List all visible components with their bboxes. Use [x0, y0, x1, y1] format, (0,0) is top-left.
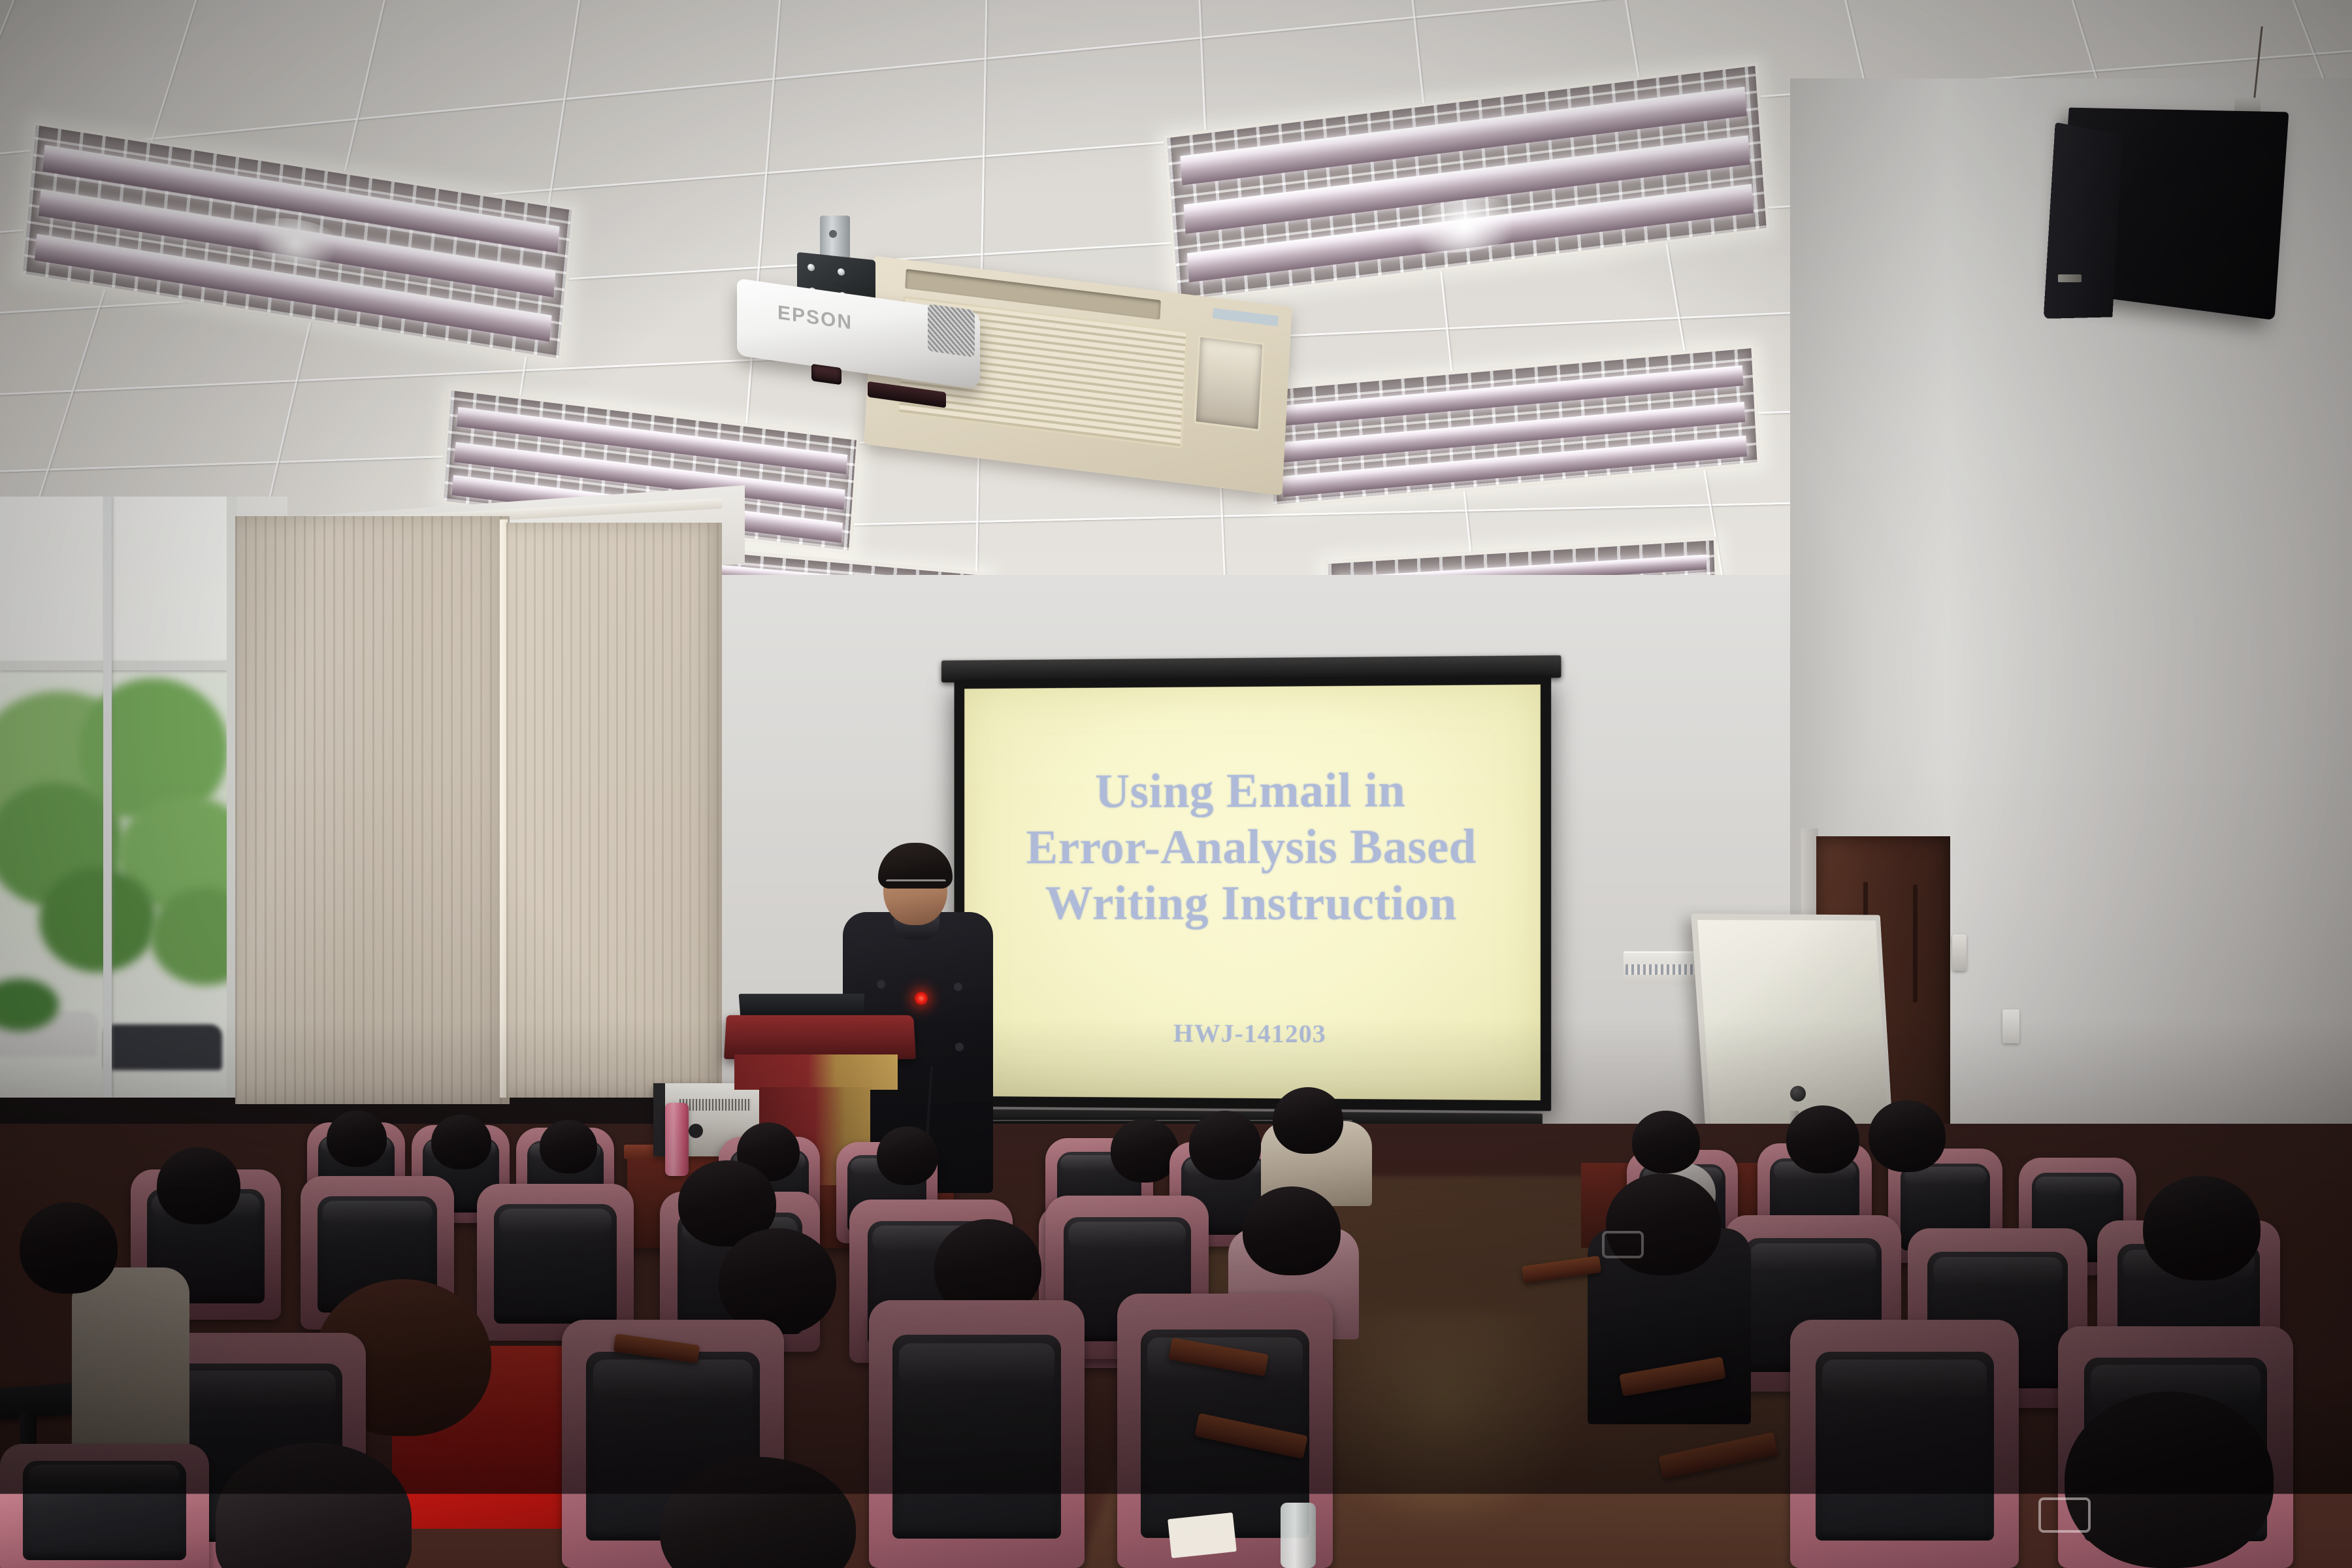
attendee-head — [1273, 1087, 1343, 1154]
slide-title-line-1: Using Email in — [964, 762, 1541, 821]
attendee-head — [157, 1147, 240, 1224]
attendee-head — [20, 1202, 118, 1294]
projection-screen-assembly: Using Email in Error-Analysis Based Writ… — [955, 675, 1552, 1111]
projector-vent-grille — [928, 304, 975, 357]
attendee-head — [2143, 1176, 2261, 1281]
door-handle[interactable] — [1952, 934, 1967, 971]
curtain-panel-left[interactable] — [235, 516, 510, 1104]
attendee-head — [2065, 1392, 2274, 1568]
window-main-pane — [0, 672, 235, 1098]
window-transom-pane — [0, 497, 235, 660]
slide-subtitle: HWJ-141203 — [1173, 1018, 1326, 1049]
lectern-skirt — [734, 1054, 898, 1090]
whiteboard-adjust-knob[interactable] — [1790, 1086, 1806, 1102]
attendee-head — [327, 1111, 387, 1167]
attendee-glasses — [1602, 1231, 1644, 1258]
speaker-front-baffle — [2044, 122, 2123, 319]
attendee-head — [1606, 1173, 1721, 1275]
paper-sheet — [1168, 1512, 1237, 1558]
ac-louver-vane — [1194, 335, 1264, 432]
speaker-brand-badge — [2058, 274, 2082, 282]
window-wall — [0, 497, 235, 1098]
attendee-head — [431, 1115, 491, 1169]
attendee-head — [1632, 1111, 1700, 1173]
ceiling-light-troffer — [20, 122, 576, 362]
ac-brand-badge — [1213, 308, 1279, 326]
slide-title-line-3: Writing Instruction — [964, 875, 1541, 932]
lectern-top — [724, 1015, 916, 1059]
slide-title-line-2: Error-Analysis Based — [964, 819, 1541, 876]
attendee-glasses — [2038, 1497, 2091, 1533]
light-switch-panel[interactable] — [2002, 1009, 2019, 1043]
attendee-head — [1243, 1186, 1341, 1275]
aisle-light-reflection — [1307, 1313, 1581, 1529]
presenter-glasses — [886, 879, 946, 889]
attendee-head — [1111, 1119, 1179, 1183]
seat[interactable] — [1790, 1320, 2019, 1568]
projected-slide: Using Email in Error-Analysis Based Writ… — [964, 685, 1541, 1101]
wall-tray-contents — [1625, 964, 1705, 975]
attendee-head — [1869, 1100, 1946, 1172]
ceiling-light-troffer — [1164, 62, 1770, 304]
seat[interactable] — [0, 1444, 209, 1568]
attendee-head — [877, 1126, 938, 1185]
podium-laptop[interactable] — [739, 994, 865, 1018]
ceiling-light-troffer — [1264, 345, 1761, 508]
lecture-hall-photo: EPSON — [0, 0, 2352, 1568]
water-bottle[interactable] — [1281, 1503, 1316, 1568]
attendee-head — [540, 1120, 597, 1173]
slide-title-block: Using Email in Error-Analysis Based Writ… — [964, 762, 1541, 932]
seat[interactable] — [869, 1300, 1085, 1568]
attendee-head — [1189, 1111, 1261, 1180]
attendee-head — [1786, 1105, 1859, 1173]
pink-thermos[interactable] — [665, 1103, 689, 1176]
attendee-head — [719, 1228, 836, 1334]
curtain-panel-right[interactable] — [506, 523, 722, 1098]
microphone-indicator-light — [915, 992, 928, 1005]
seat[interactable] — [477, 1184, 634, 1341]
